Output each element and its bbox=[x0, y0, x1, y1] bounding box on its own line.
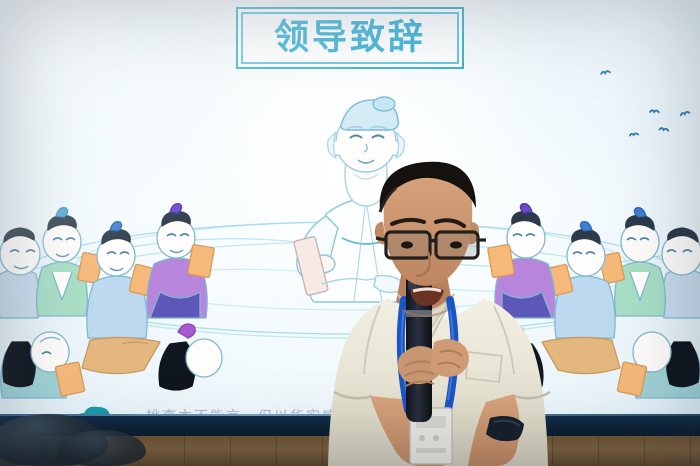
projector-glow-right bbox=[490, 0, 700, 170]
bird-icon bbox=[648, 107, 662, 115]
speaker-person bbox=[318, 160, 568, 466]
bird-icon bbox=[629, 131, 639, 139]
slide-title: 领导致辞 bbox=[274, 21, 426, 56]
students-left-illustration bbox=[0, 192, 226, 402]
screenshot-root: 领导致辞 bbox=[0, 0, 700, 466]
audience-head bbox=[58, 430, 146, 466]
slide-title-box: 领导致辞 bbox=[236, 7, 464, 69]
